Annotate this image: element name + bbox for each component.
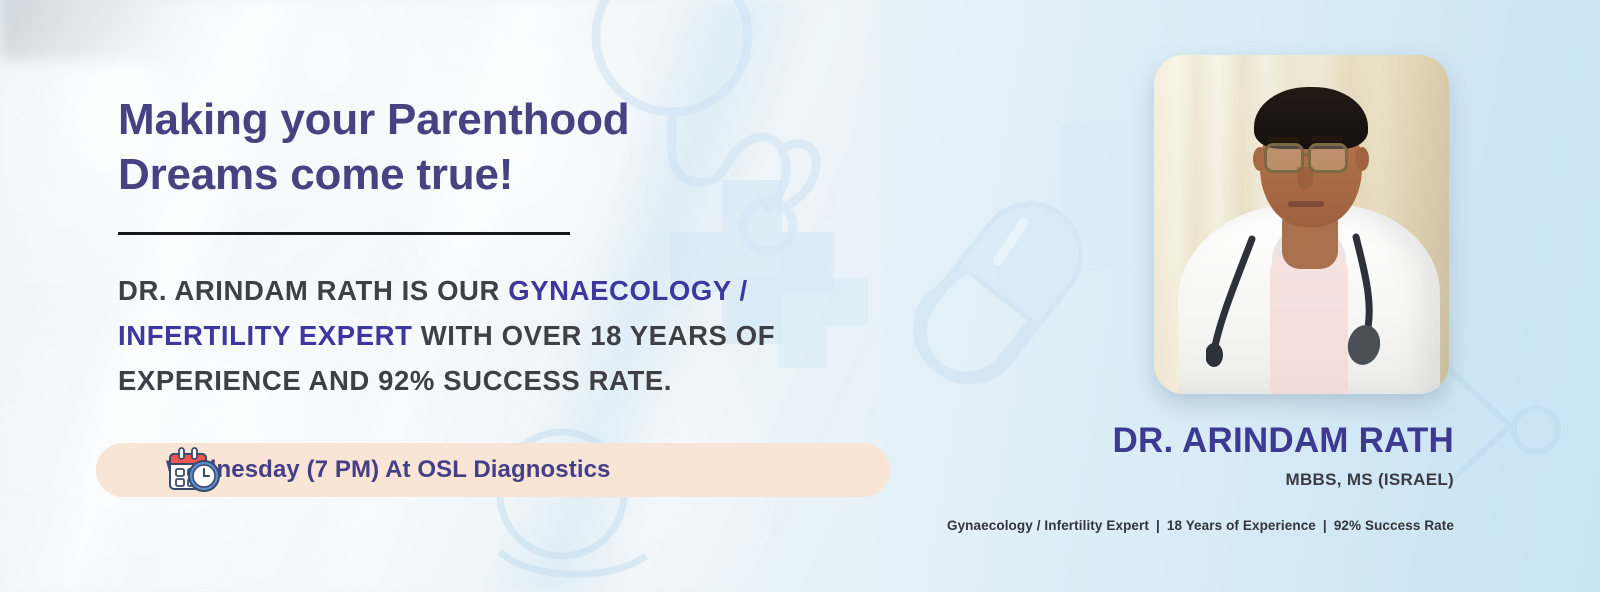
credential-success-rate: 92% Success Rate xyxy=(1334,518,1454,533)
doctor-figure xyxy=(1154,55,1449,394)
healthcare-promo-banner: Making your Parenthood Dreams come true!… xyxy=(0,0,1600,592)
banner-subcopy: Dr. Arindam Rath is our Gynaecology / In… xyxy=(118,268,888,403)
subcopy-part-1: Dr. Arindam Rath is our xyxy=(118,275,508,306)
doctor-credentials: Gynaecology / Infertility Expert|18 Year… xyxy=(930,518,1454,533)
background-lines-decoration xyxy=(1440,330,1600,530)
banner-content: Making your Parenthood Dreams come true!… xyxy=(118,0,938,592)
doctor-name: DR. ARINDAM RATH xyxy=(930,420,1454,462)
credential-separator-2: | xyxy=(1316,518,1334,533)
appointment-label: Wednesday (7 PM) At OSL Diagnostics xyxy=(166,456,610,484)
calendar-clock-icon xyxy=(167,447,221,493)
divider xyxy=(118,232,570,235)
headline-line-2: Dreams come true! xyxy=(118,147,629,202)
headline-line-1: Making your Parenthood xyxy=(118,92,629,147)
doctor-degree: MBBS, MS (ISRAEL) xyxy=(930,470,1454,490)
credential-experience: 18 Years of Experience xyxy=(1167,518,1316,533)
credential-specialty: Gynaecology / Infertility Expert xyxy=(947,518,1149,533)
doctor-name-block: DR. ARINDAM RATH MBBS, MS (ISRAEL) xyxy=(930,420,1454,490)
page-title: Making your Parenthood Dreams come true! xyxy=(118,92,629,202)
doctor-portrait xyxy=(1154,55,1449,394)
credential-separator-1: | xyxy=(1149,518,1167,533)
portrait-stethoscope-icon xyxy=(1206,233,1406,373)
